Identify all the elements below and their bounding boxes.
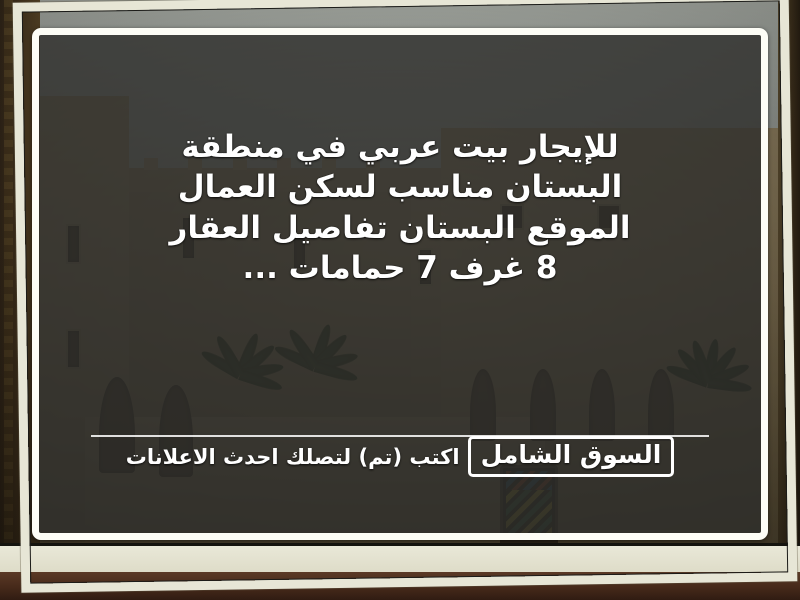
ad-card: للإيجار بيت عربي في منطقة البستان مناسب … (32, 28, 768, 540)
brand-logo-box[interactable]: السوق الشامل (468, 436, 675, 477)
ad-image-canvas: للإيجار بيت عربي في منطقة البستان مناسب … (0, 0, 800, 600)
ad-footer: السوق الشامل اكتب (تم) لتصلك احدث الاعلا… (39, 436, 761, 477)
ad-card-content: للإيجار بيت عربي في منطقة البستان مناسب … (39, 35, 761, 533)
footer-tagline: اكتب (تم) لتصلك احدث الاعلانات (126, 445, 460, 469)
ad-headline: للإيجار بيت عربي في منطقة البستان مناسب … (39, 35, 761, 288)
